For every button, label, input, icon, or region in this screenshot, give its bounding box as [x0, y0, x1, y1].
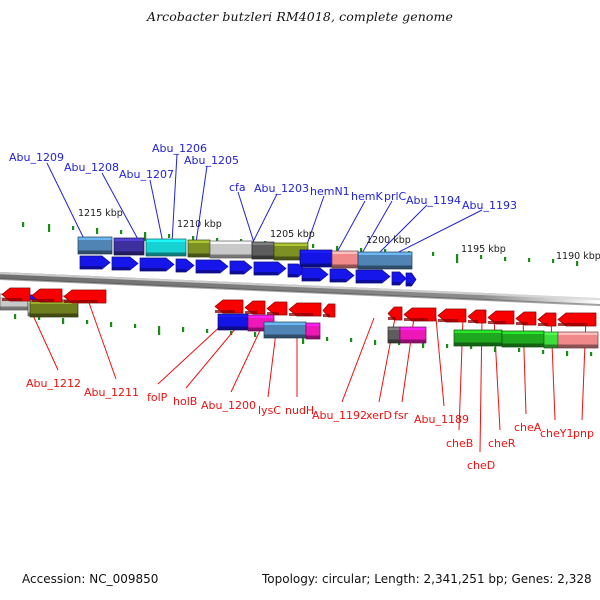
gene-label-forward[interactable]: Abu_1205 — [184, 155, 239, 166]
feature-box — [558, 332, 598, 348]
forward-gene-arrow — [140, 258, 174, 271]
feature-box — [218, 314, 248, 330]
gene-label-forward[interactable]: Abu_1203 — [254, 183, 309, 194]
gene-label-reverse[interactable]: nudH — [285, 405, 314, 416]
gene-tick — [14, 314, 16, 319]
gene-label-forward[interactable]: Abu_1193 — [462, 200, 517, 211]
gene-tick — [134, 324, 136, 328]
feature-box — [388, 327, 400, 343]
feature-box — [264, 322, 306, 338]
gene-tick — [360, 248, 362, 252]
reverse-gene-arrow — [32, 289, 62, 302]
reverse-gene-arrow — [2, 288, 30, 301]
leader-line — [47, 163, 86, 243]
feature-box — [544, 332, 558, 348]
gene-tick — [182, 327, 184, 332]
gene-label-reverse[interactable]: lysC — [258, 405, 281, 416]
gene-tick — [326, 337, 328, 341]
feature-box — [188, 240, 210, 257]
forward-gene-arrow — [330, 269, 354, 282]
gene-tick — [62, 318, 64, 324]
gene-tick — [590, 352, 592, 356]
gene-tick — [456, 254, 458, 263]
leader-line — [436, 318, 444, 406]
leader-line — [231, 322, 264, 392]
gene-label-reverse[interactable]: cheD — [467, 460, 495, 471]
gene-label-reverse[interactable]: Abu_1200 — [201, 400, 256, 411]
gene-tick — [566, 351, 568, 356]
leader-line — [88, 300, 116, 379]
forward-gene-arrow — [406, 273, 416, 286]
gene-tick — [374, 340, 376, 345]
leader-line — [196, 166, 207, 243]
leader-line — [336, 201, 365, 254]
gene-label-reverse[interactable]: cheR — [488, 438, 515, 449]
feature-box — [210, 241, 252, 258]
feature-box — [300, 250, 332, 267]
gene-tick — [86, 320, 88, 324]
feature-box — [332, 251, 358, 268]
gene-label-reverse[interactable]: fsr — [394, 410, 408, 421]
forward-gene-arrow — [230, 261, 252, 274]
scale-label: 1190 kbp — [556, 251, 600, 262]
reverse-gene-arrow — [558, 313, 596, 326]
scale-label: 1195 kbp — [461, 244, 506, 255]
accession-text: Accession: NC_009850 — [22, 572, 158, 586]
genome-graphic — [0, 0, 600, 600]
reverse-gene-arrow — [516, 312, 536, 325]
gene-tick — [350, 338, 352, 342]
feature-box — [454, 330, 502, 346]
gene-tick — [168, 234, 170, 238]
reverse-gene-arrow — [267, 302, 287, 315]
gene-tick — [96, 228, 98, 234]
feature-box — [114, 238, 144, 255]
reverse-gene-arrow — [388, 307, 402, 320]
gene-label-forward[interactable]: hemK — [351, 191, 383, 202]
feature-box — [78, 237, 112, 254]
forward-gene-arrow — [356, 270, 390, 283]
forward-gene-arrow — [176, 259, 194, 272]
reverse-gene-arrow — [404, 308, 436, 321]
reverse-gene-arrow — [64, 290, 106, 303]
reverse-gene-arrow — [538, 313, 556, 326]
reverse-gene-arrow — [245, 301, 265, 314]
feature-box — [146, 239, 186, 256]
gene-label-reverse[interactable]: cheA — [514, 422, 541, 433]
feature-box — [30, 301, 78, 317]
gene-tick — [48, 224, 50, 232]
reverse-gene-arrow — [289, 303, 321, 316]
feature-box — [502, 331, 544, 347]
gene-tick — [120, 230, 122, 234]
gene-tick — [480, 255, 482, 259]
gene-label-forward[interactable]: prlC — [384, 191, 406, 202]
forward-gene-arrow — [196, 260, 228, 273]
gene-tick — [254, 332, 256, 337]
leader-line — [376, 205, 427, 256]
feature-box — [358, 252, 412, 269]
gene-tick — [552, 259, 554, 263]
gene-label-reverse[interactable]: cheB — [446, 438, 473, 449]
reverse-gene-arrow — [215, 300, 243, 313]
gene-tick — [528, 258, 530, 262]
leader-line — [342, 318, 374, 402]
forward-gene-arrow — [392, 272, 406, 285]
gene-tick — [158, 326, 160, 335]
leader-line — [361, 201, 392, 255]
gene-label-forward[interactable]: hemN1 — [310, 186, 350, 197]
gene-tick — [542, 350, 544, 354]
feature-box — [400, 327, 426, 343]
gene-tick — [206, 329, 208, 333]
genome-viewer: Arcobacter butzleri RM4018, complete gen… — [0, 0, 600, 600]
gene-tick — [432, 252, 434, 256]
gene-label-forward[interactable]: cfa — [229, 182, 246, 193]
gene-label-reverse[interactable]: Abu_1189 — [414, 414, 469, 425]
gene-tick — [312, 244, 314, 248]
gene-tick — [72, 226, 74, 230]
gene-tick — [518, 348, 520, 352]
gene-tick — [504, 257, 506, 261]
gene-tick — [446, 344, 448, 348]
forward-gene-arrow — [254, 262, 286, 275]
gene-label-reverse[interactable]: holB — [173, 396, 197, 407]
gene-tick — [110, 322, 112, 327]
feature-box — [252, 242, 274, 259]
reverse-gene-arrow — [438, 309, 466, 322]
gene-label-reverse[interactable]: folP — [147, 392, 167, 403]
forward-gene-arrow — [80, 256, 110, 269]
gene-label-reverse[interactable]: cheY1 — [540, 428, 574, 439]
gene-label-forward[interactable]: Abu_1206 — [152, 143, 207, 154]
forward-gene-arrow — [112, 257, 138, 270]
gene-label-forward[interactable]: Abu_1207 — [119, 169, 174, 180]
leader-line — [150, 180, 163, 243]
gene-label-forward[interactable]: Abu_1208 — [64, 162, 119, 173]
reverse-gene-arrow — [488, 311, 514, 324]
gene-label-reverse[interactable]: Abu_1212 — [26, 378, 81, 389]
gene-tick — [22, 222, 24, 227]
genome-stats-text: Topology: circular; Length: 2,341,251 bp… — [262, 572, 592, 586]
feature-box — [306, 323, 320, 339]
gene-label-forward[interactable]: Abu_1194 — [406, 195, 461, 206]
leader-line — [186, 322, 241, 388]
reverse-gene-arrow — [468, 310, 486, 323]
leader-line — [268, 332, 276, 397]
scale-label: 1200 kbp — [366, 235, 411, 246]
scale-label: 1215 kbp — [78, 208, 123, 219]
scale-label: 1205 kbp — [270, 229, 315, 240]
gene-tick — [422, 343, 424, 348]
reverse-gene-arrow — [323, 304, 335, 317]
gene-label-reverse[interactable]: pnp — [573, 428, 594, 439]
leader-line — [249, 194, 277, 250]
gene-label-reverse[interactable]: xerD — [366, 410, 392, 421]
scale-label: 1210 kbp — [177, 219, 222, 230]
gene-label-reverse[interactable]: Abu_1211 — [84, 387, 139, 398]
forward-gene-arrow — [302, 268, 328, 281]
gene-label-forward[interactable]: Abu_1209 — [9, 152, 64, 163]
gene-label-reverse[interactable]: Abu_1192 — [312, 410, 367, 421]
